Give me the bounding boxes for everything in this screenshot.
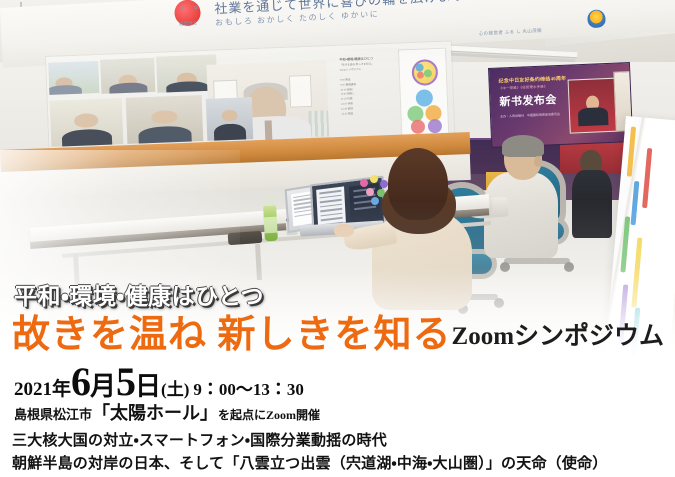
date-year: 2021年 bbox=[14, 379, 71, 400]
subtitle-line-1: 三大核大国の対立・スマートフォン・国際分業動揺の時代 bbox=[12, 429, 387, 450]
headline: 故きを温ね 新しきを知るZoomシンポジウム bbox=[12, 303, 664, 358]
laptop-document-window bbox=[316, 186, 346, 225]
person-seated-man bbox=[488, 138, 562, 260]
display-line-4: 主办：人民出版社 中国国际贸易促进委员会 bbox=[500, 112, 560, 119]
program-title: 平和・環境・健康はひとつ bbox=[339, 56, 373, 61]
venue-city: 島根県松江市 bbox=[14, 407, 92, 422]
wall-picture-icon bbox=[289, 75, 312, 108]
display-line-2: 《中一带路》《经贸理水手册》 bbox=[499, 84, 548, 91]
motto-pre-label: 第 章 bbox=[180, 5, 198, 13]
zoom-tile bbox=[50, 98, 124, 147]
event-time: 9：00〜13：30 bbox=[193, 380, 304, 399]
program-item: 9:00 開会 bbox=[340, 78, 351, 81]
diagram-poster bbox=[398, 48, 449, 138]
woman-hand bbox=[334, 224, 354, 237]
woman-hair bbox=[388, 148, 448, 220]
subtitle-line-2: 朝鮮半島の対岸の日本、そして「八雲立つ出雲（宍道湖・中海・大山圏）」の天命（使命… bbox=[12, 452, 607, 473]
date-weekday: (土) bbox=[161, 380, 189, 399]
program-subtitle: 「故きを温ね 新しきを知る」 bbox=[339, 62, 373, 66]
program-item: 12:10 休憩 bbox=[341, 103, 353, 106]
program-item: 10:00 報告1 bbox=[340, 88, 353, 91]
man-ear bbox=[534, 156, 542, 167]
person-woman-at-laptop bbox=[374, 148, 470, 308]
green-tea-bottle bbox=[263, 205, 278, 242]
display-speaker-photo bbox=[568, 78, 618, 134]
program-item: 9:10 基調講演 bbox=[340, 83, 356, 87]
zoom-tile bbox=[126, 95, 204, 144]
display-speaker-body bbox=[578, 107, 609, 126]
date-day-number: 5 bbox=[116, 359, 135, 404]
venue-line: 島根県松江市「太陽ホール」を起点にZoom開催 bbox=[14, 399, 320, 425]
program-item: 13:30 閉会 bbox=[341, 112, 353, 115]
display-line-1: 纪念中日友好条约缔结40周年 bbox=[498, 75, 566, 85]
program-item: 12:30 総括 bbox=[341, 107, 353, 110]
zoom-tile bbox=[206, 97, 254, 141]
program-item: 10:40 報告2 bbox=[341, 93, 354, 96]
chair-caster bbox=[564, 262, 574, 272]
zoom-tile bbox=[48, 61, 99, 95]
event-display-screen: 纪念中日友好条约缔结40周年 《中一带路》《经贸理水手册》 新书发布会 主办：人… bbox=[488, 62, 633, 148]
motto-pre-label-2: 経営理念 bbox=[179, 20, 197, 28]
event-date: 2021年6月5日(土) 9：00〜13：30 bbox=[14, 358, 304, 405]
motto-credit-text: 心の経営者 ふる し 丸山茂樹 bbox=[479, 28, 543, 36]
program-subtitle-2: Zoomシンポジウム bbox=[340, 68, 362, 72]
chair-caster bbox=[500, 262, 510, 272]
bookshelf-icon bbox=[308, 110, 329, 137]
headline-japanese: 故きを温ね 新しきを知る bbox=[12, 314, 452, 356]
bottle-label bbox=[264, 217, 278, 234]
date-month-number: 6 bbox=[71, 359, 90, 404]
company-logo-icon bbox=[587, 9, 607, 29]
poster-root: 第 章 経営理念 社業を通じて世界に喜びの輪を広げよう おもしろ おかしく たの… bbox=[0, 0, 675, 477]
zoom-tile bbox=[100, 58, 155, 94]
dark-case-object bbox=[228, 231, 263, 245]
date-month-unit: 月 bbox=[90, 372, 116, 401]
man-hair bbox=[502, 135, 544, 157]
headline-zoom-label: Zoomシンポジウム bbox=[452, 323, 665, 350]
wall-motto: 第 章 経営理念 社業を通じて世界に喜びの輪を広げよう おもしろ おかしく たの… bbox=[214, 0, 536, 48]
display-line-3: 新书发布会 bbox=[499, 91, 557, 109]
bottle-cap bbox=[265, 198, 274, 206]
venue-suffix: を起点にZoom開催 bbox=[218, 408, 320, 422]
venue-hall: 「太陽ホール」 bbox=[92, 403, 218, 423]
program-item: 11:20 討論 bbox=[341, 98, 353, 101]
date-day-unit: 日 bbox=[135, 372, 161, 401]
